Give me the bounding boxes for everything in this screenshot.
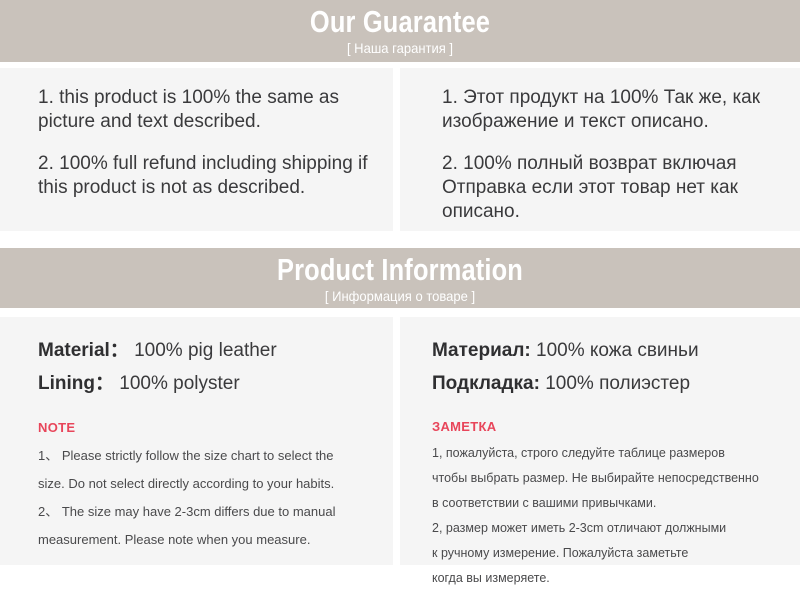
product-information-banner-title: Product Information (72, 253, 728, 287)
spec-label-material: Material： (38, 340, 129, 361)
spec-label-material-ru: Материал: (432, 340, 531, 361)
note-line-english-1: 1、 Please strictly follow the size chart… (38, 442, 379, 470)
guarantee-banner-subtitle: [ Наша гарантия ] (28, 39, 772, 57)
product-information-panel-english: Material： 100% pig leather Lining： 100% … (0, 317, 393, 565)
guarantee-banner-title: Our Guarantee (72, 5, 728, 39)
guarantee-russian-item-1: 1. Этот продукт на 100% Так же, как изоб… (442, 86, 780, 134)
product-detail-page: Our Guarantee [ Наша гарантия ] 1. this … (0, 0, 800, 583)
spec-value-material-ru: 100% кожа свиньи (536, 340, 699, 361)
guarantee-banner: Our Guarantee [ Наша гарантия ] (0, 0, 800, 62)
spec-row-material: Material： 100% pig leather (38, 334, 379, 367)
spec-row-material-ru: Материал: 100% кожа свиньи (432, 334, 790, 367)
product-information-banner: Product Information [ Информация о товар… (0, 248, 800, 308)
note-line-russian-6: когда вы измеряете. (432, 566, 790, 591)
note-line-russian-1: 1, пожалуйста, строго следуйте таблице р… (432, 441, 790, 466)
guarantee-russian-content: 1. Этот продукт на 100% Так же, как изоб… (400, 68, 800, 224)
note-line-russian-2: чтобы выбрать размер. Не выбирайте непос… (432, 466, 790, 491)
guarantee-russian-item-2: 2. 100% полный возврат включая Отправка … (442, 152, 780, 224)
note-line-english-3: 2、 The size may have 2-3cm differs due t… (38, 498, 379, 526)
spec-value-lining-ru: 100% полиэстер (545, 373, 690, 394)
spec-label-lining-ru: Подкладка: (432, 373, 540, 394)
spec-label-lining: Lining： (38, 373, 114, 394)
spec-value-material: 100% pig leather (134, 340, 277, 361)
note-line-russian-3: в соответствии с вашими привычками. (432, 491, 790, 516)
guarantee-panel-english: 1. this product is 100% the same as pict… (0, 68, 393, 231)
note-line-russian-5: к ручному измерение. Пожалуйста заметьте (432, 541, 790, 566)
product-information-banner-subtitle: [ Информация о товаре ] (28, 287, 772, 305)
guarantee-english-content: 1. this product is 100% the same as pict… (0, 68, 393, 200)
product-information-panel-russian: Материал: 100% кожа свиньи Подкладка: 10… (400, 317, 800, 565)
product-information-russian-content: Материал: 100% кожа свиньи Подкладка: 10… (400, 317, 800, 591)
spec-row-lining-ru: Подкладка: 100% полиэстер (432, 367, 790, 400)
note-line-russian-4: 2, размер может иметь 2-3cm отличают дол… (432, 516, 790, 541)
guarantee-panel-russian: 1. Этот продукт на 100% Так же, как изоб… (400, 68, 800, 231)
note-line-english-4: measurement. Please note when you measur… (38, 526, 379, 554)
note-line-english-2: size. Do not select directly according t… (38, 470, 379, 498)
spec-value-lining: 100% polyster (119, 373, 239, 394)
note-heading-russian: ЗАМЕТКА (432, 419, 790, 435)
product-information-english-content: Material： 100% pig leather Lining： 100% … (0, 317, 393, 554)
guarantee-english-item-1: 1. this product is 100% the same as pict… (38, 86, 373, 134)
spec-row-lining: Lining： 100% polyster (38, 367, 379, 400)
note-heading-english: NOTE (38, 420, 379, 436)
guarantee-english-item-2: 2. 100% full refund including shipping i… (38, 152, 373, 200)
